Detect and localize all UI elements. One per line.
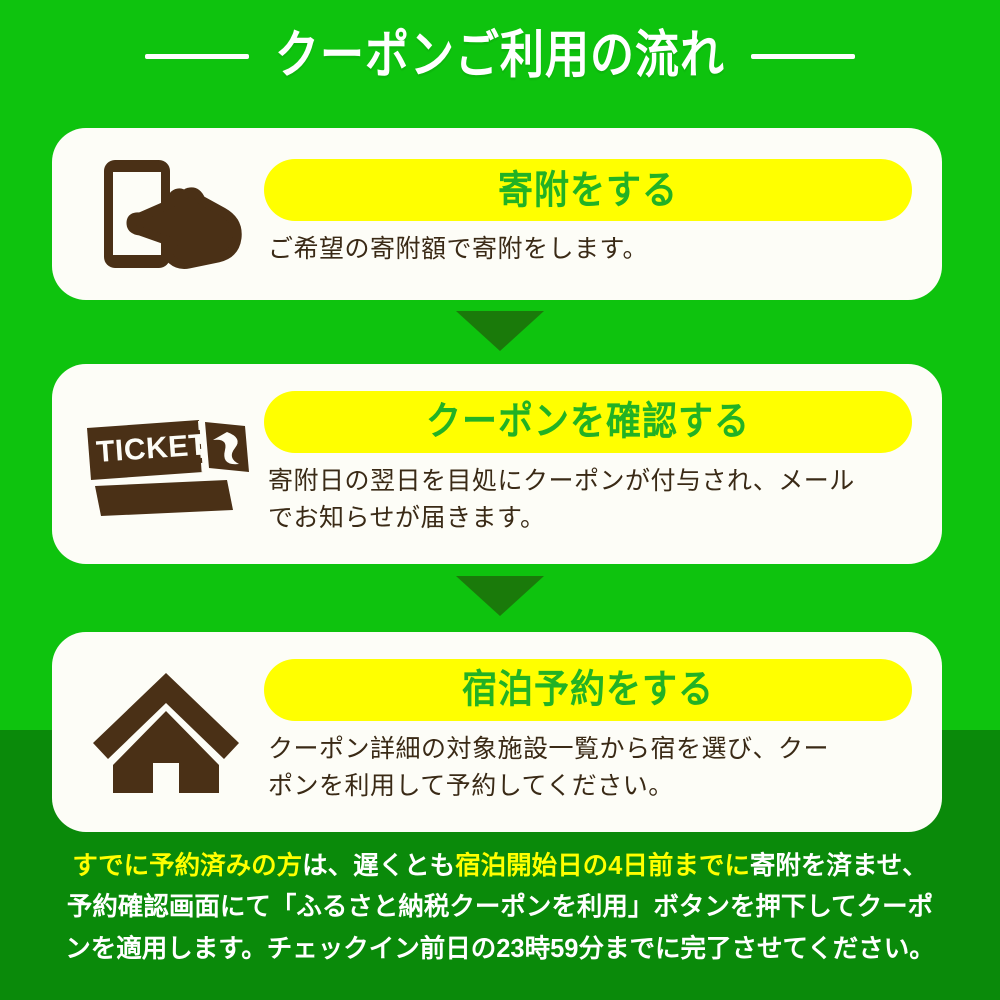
step-3-description-line-1: クーポン詳細の対象施設一覧から宿を選び、クー bbox=[268, 731, 912, 769]
step-2-badge-label: クーポンを確認する bbox=[426, 402, 750, 441]
footer-note-plain-2: 寄附を済ませ、 bbox=[750, 852, 928, 880]
footer-note-line-2: 予約確認画面にて「ふるさと納税クーポンを利用」ボタンを押下してクーポ bbox=[26, 887, 974, 928]
step-3-description: クーポン詳細の対象施設一覧から宿を選び、クー ポンを利用して予約してください。 bbox=[264, 731, 912, 806]
step-3-body: 宿泊予約をする クーポン詳細の対象施設一覧から宿を選び、クー ポンを利用して予約… bbox=[264, 659, 942, 806]
house-icon bbox=[91, 669, 241, 795]
step-1-badge-label: 寄附をする bbox=[498, 171, 678, 210]
ticket-icon: TICKET bbox=[77, 410, 255, 518]
smartphone-tap-icon bbox=[82, 155, 250, 273]
step-3-badge-label: 宿泊予約をする bbox=[462, 670, 714, 709]
title-rule-right-icon bbox=[751, 54, 855, 59]
step-card-2: TICKET クーポンを確認する 寄附日の翌日を目処にクーポンが付与され、メール… bbox=[52, 364, 942, 564]
step-3-icon-wrap bbox=[68, 632, 264, 832]
footer-note-highlight-1: すでに予約済みの方 bbox=[72, 852, 302, 880]
step-2-description: 寄附日の翌日を目処にクーポンが付与され、メール でお知らせが届きます。 bbox=[264, 463, 912, 538]
step-2-description-line-1: 寄附日の翌日を目処にクーポンが付与され、メール bbox=[268, 463, 912, 501]
step-2-badge: クーポンを確認する bbox=[264, 391, 912, 453]
step-1-icon-wrap bbox=[68, 128, 264, 300]
footer-note-line-1: すでに予約済みの方は、遅くとも宿泊開始日の4日前までに寄附を済ませ、 bbox=[26, 846, 974, 887]
page-header: クーポンご利用の流れ bbox=[0, 22, 1000, 90]
step-1-description: ご希望の寄附額で寄附をします。 bbox=[264, 231, 912, 269]
step-1-badge: 寄附をする bbox=[264, 159, 912, 221]
step-card-1: 寄附をする ご希望の寄附額で寄附をします。 bbox=[52, 128, 942, 300]
step-3-badge: 宿泊予約をする bbox=[264, 659, 912, 721]
step-1-body: 寄附をする ご希望の寄附額で寄附をします。 bbox=[264, 159, 942, 269]
footer-note-highlight-2: 宿泊開始日の4日前までに bbox=[455, 852, 750, 880]
step-1-description-line-1: ご希望の寄附額で寄附をします。 bbox=[268, 231, 912, 269]
footer-note: すでに予約済みの方は、遅くとも宿泊開始日の4日前までに寄附を済ませ、 予約確認画… bbox=[0, 846, 1000, 970]
step-card-3: 宿泊予約をする クーポン詳細の対象施設一覧から宿を選び、クー ポンを利用して予約… bbox=[52, 632, 942, 832]
footer-note-plain-1: は、遅くとも bbox=[302, 852, 455, 880]
step-2-description-line-2: でお知らせが届きます。 bbox=[268, 500, 912, 538]
step-3-description-line-2: ポンを利用して予約してください。 bbox=[268, 768, 912, 806]
footer-note-line-3: ンを適用します。チェックイン前日の23時59分までに完了させてください。 bbox=[26, 929, 974, 970]
step-2-body: クーポンを確認する 寄附日の翌日を目処にクーポンが付与され、メール でお知らせが… bbox=[264, 391, 942, 538]
page-title: クーポンご利用の流れ bbox=[275, 30, 725, 82]
title-rule-left-icon bbox=[145, 54, 249, 59]
step-2-icon-wrap: TICKET bbox=[68, 364, 264, 564]
